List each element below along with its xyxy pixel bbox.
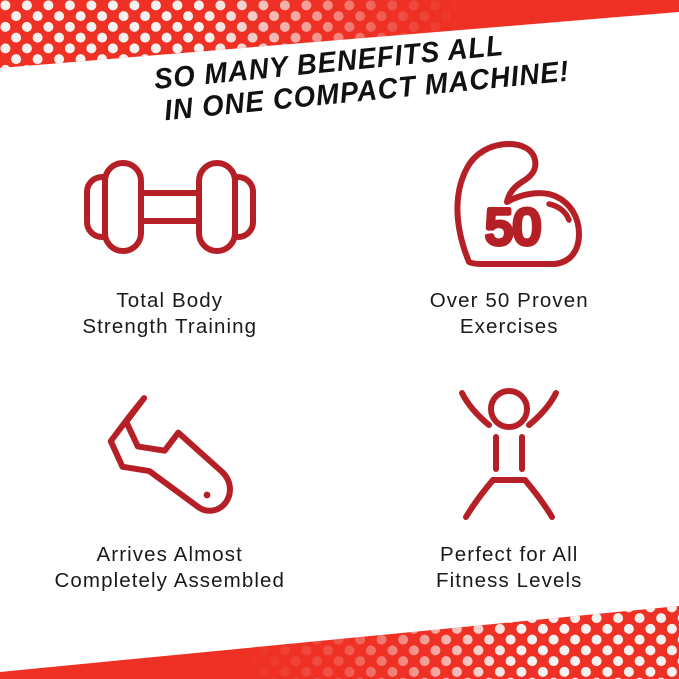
feature-caption: Perfect for All Fitness Levels bbox=[436, 542, 582, 594]
feature-item-strength-training: Total Body Strength Training bbox=[0, 132, 340, 356]
bottom-red-band bbox=[0, 598, 679, 679]
feature-item-all-fitness-levels: Perfect for All Fitness Levels bbox=[340, 356, 679, 594]
wrench-icon bbox=[95, 378, 245, 528]
feature-caption: Arrives Almost Completely Assembled bbox=[54, 542, 285, 594]
feature-item-proven-exercises: 50 Over 50 Proven Exercises bbox=[340, 132, 679, 356]
person-arms-raised-icon bbox=[434, 378, 584, 528]
features-grid: Total Body Strength Training 50 Over 50 … bbox=[0, 132, 679, 594]
bottom-dot-pattern bbox=[0, 598, 679, 679]
feature-item-arrives-assembled: Arrives Almost Completely Assembled bbox=[0, 356, 340, 594]
infographic-page: SO MANY BENEFITS ALL IN ONE COMPACT MACH… bbox=[0, 0, 679, 679]
feature-caption: Over 50 Proven Exercises bbox=[430, 288, 589, 340]
bicep-number-label: 50 bbox=[485, 199, 541, 255]
headline: SO MANY BENEFITS ALL IN ONE COMPACT MACH… bbox=[0, 13, 679, 144]
dumbbell-icon bbox=[75, 132, 265, 282]
flexed-bicep-icon: 50 bbox=[429, 132, 589, 282]
feature-caption: Total Body Strength Training bbox=[82, 288, 257, 340]
